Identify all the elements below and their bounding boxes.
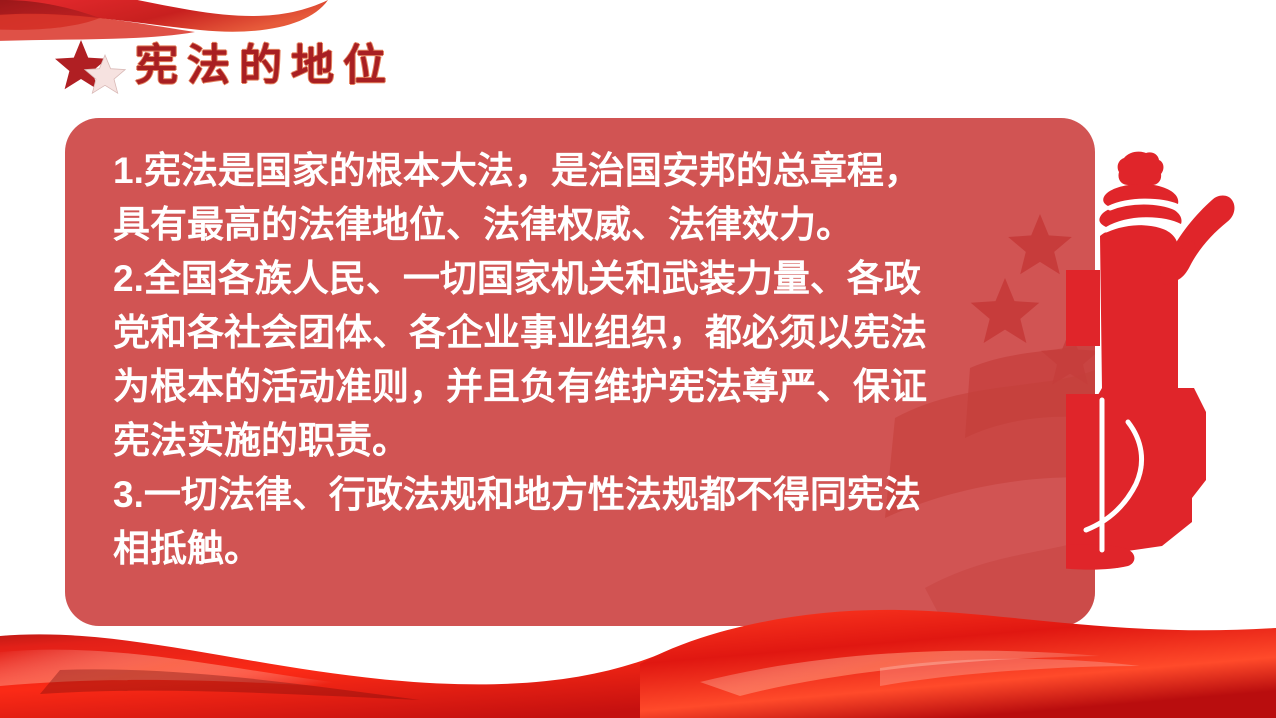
text-line: 3.一切法律、行政法规和地方性法规都不得同宪法 [113, 468, 1095, 522]
double-star-icon [55, 38, 133, 94]
text-line: 1.宪法是国家的根本大法，是治国安邦的总章程， [113, 144, 1095, 198]
constitution-status-text: 1.宪法是国家的根本大法，是治国安邦的总章程， 具有最高的法律地位、法律权威、法… [65, 118, 1095, 576]
paragraph-3: 3.一切法律、行政法规和地方性法规都不得同宪法 相抵触。 [113, 468, 1095, 576]
text-line: 宪法实施的职责。 [113, 414, 1095, 468]
text-line: 为根本的活动准则，并且负有维护宪法尊严、保证 [113, 360, 1095, 414]
paragraph-1: 1.宪法是国家的根本大法，是治国安邦的总章程， 具有最高的法律地位、法律权威、法… [113, 144, 1095, 252]
slide-root: 宪法的地位 1.宪法是国家的根本大法，是治国安邦的总章程， 具有最高的法律地位、… [0, 0, 1276, 718]
page-title-row: 宪法的地位 [55, 36, 395, 96]
content-card: 1.宪法是国家的根本大法，是治国安邦的总章程， 具有最高的法律地位、法律权威、法… [65, 118, 1095, 626]
text-line: 相抵触。 [113, 522, 1095, 576]
monument-silhouette [1066, 150, 1276, 630]
paragraph-2: 2.全国各族人民、一切国家机关和武装力量、各政 党和各社会团体、各企业事业组织，… [113, 252, 1095, 468]
page-title: 宪法的地位 [135, 45, 395, 88]
text-line: 党和各社会团体、各企业事业组织，都必须以宪法 [113, 306, 1095, 360]
text-line: 具有最高的法律地位、法律权威、法律效力。 [113, 198, 1095, 252]
text-line: 2.全国各族人民、一切国家机关和武装力量、各政 [113, 252, 1095, 306]
